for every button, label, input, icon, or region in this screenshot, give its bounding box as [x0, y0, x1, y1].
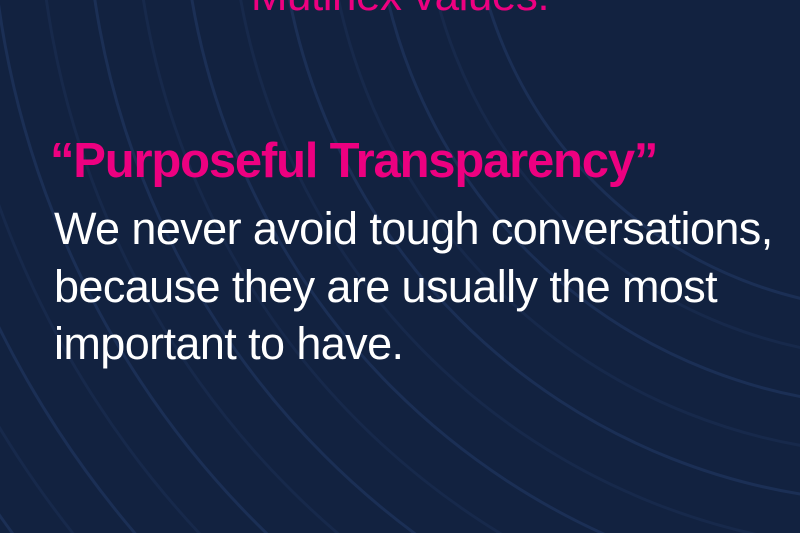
body-copy: We never avoid tough conversations, beca… [54, 200, 784, 373]
bottom-cutoff-wordmark: mutinex [0, 527, 800, 533]
slide-canvas: Mutinex values: “Purposeful Transparency… [0, 0, 800, 533]
body-line: important to have. [54, 315, 784, 373]
headline-quote: “Purposeful Transparency” [50, 132, 657, 190]
eyebrow-title: Mutinex values: [0, 0, 800, 22]
body-line: We never avoid tough conversations, [54, 200, 784, 258]
slide-content: Mutinex values: “Purposeful Transparency… [0, 0, 800, 533]
body-line: because they are usually the most [54, 258, 784, 316]
